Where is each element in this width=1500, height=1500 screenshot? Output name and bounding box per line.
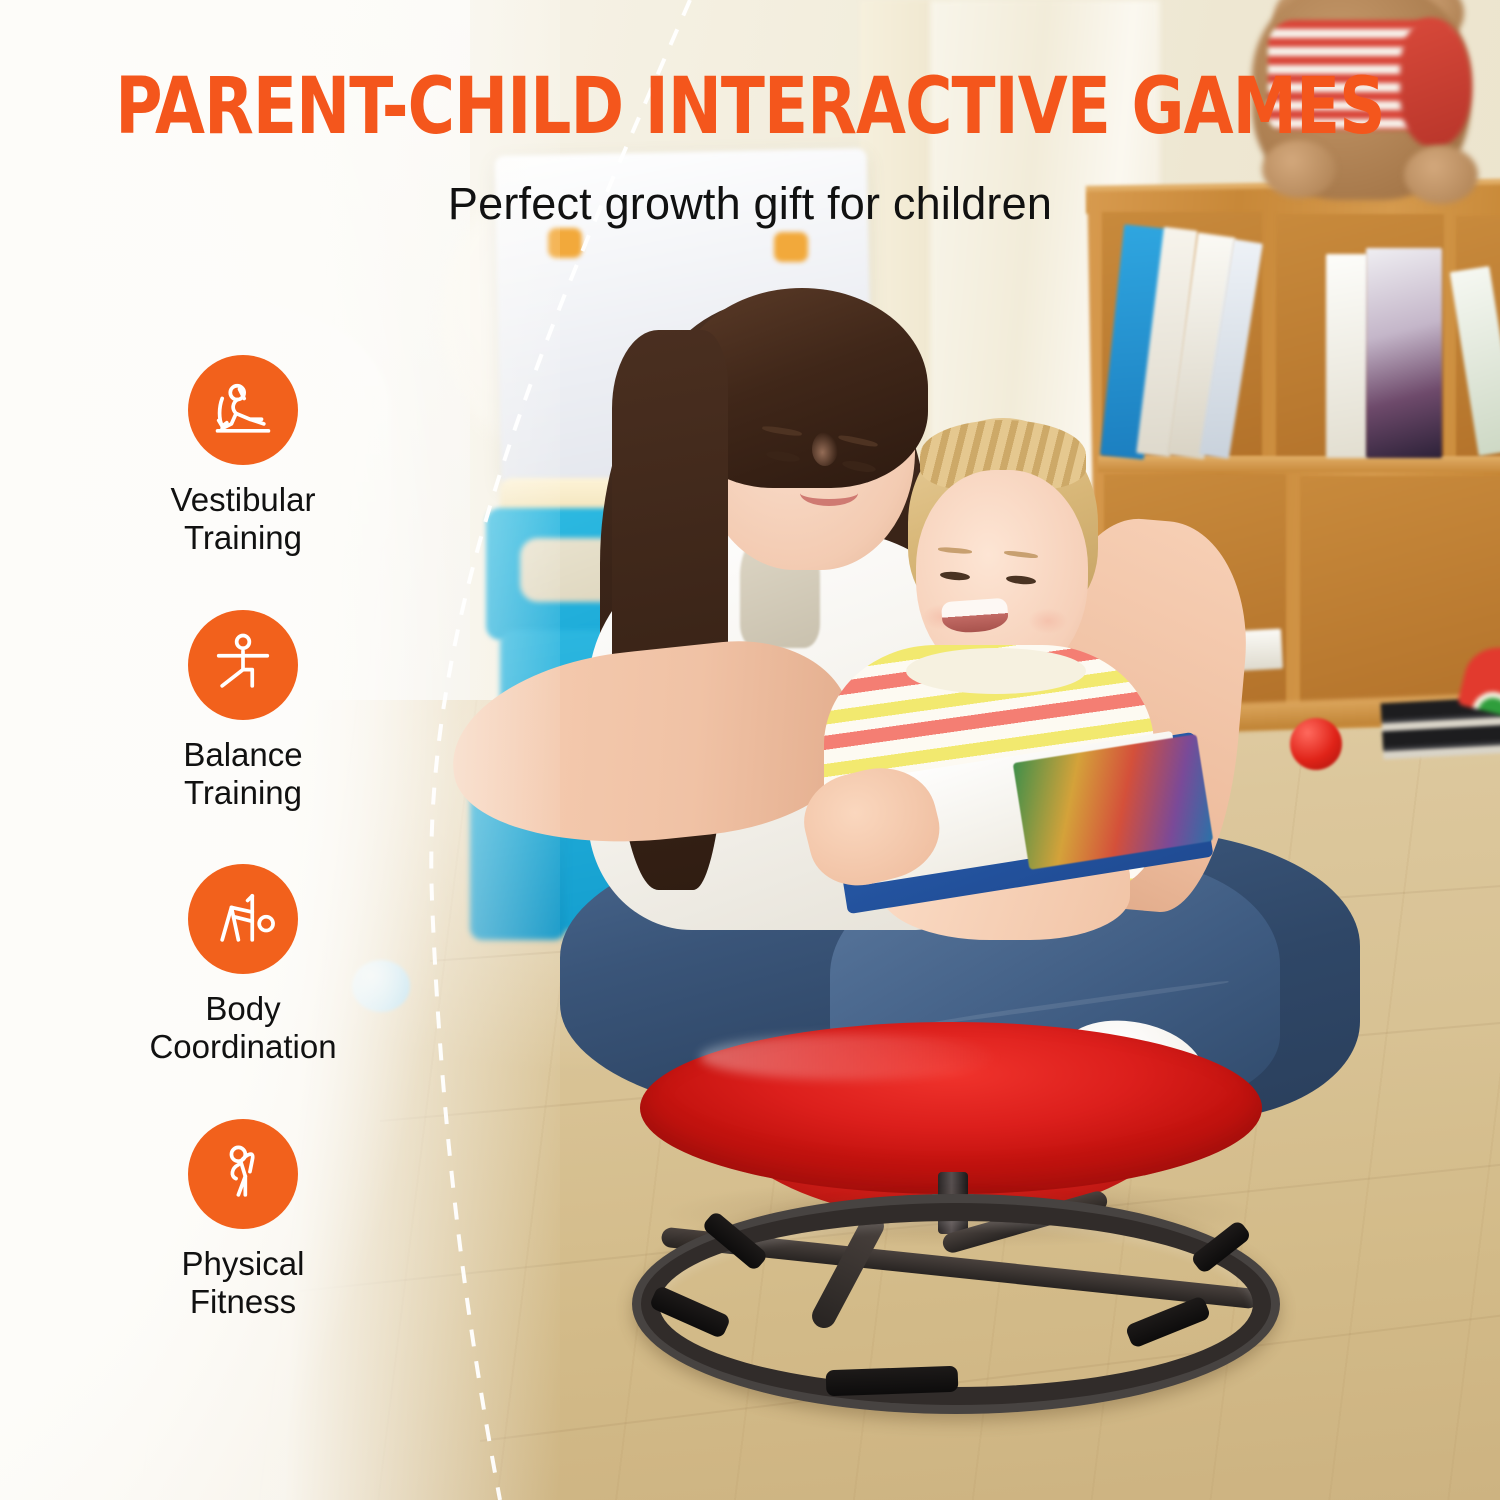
chair-seat-highlight [700, 1034, 1000, 1080]
easel-knob [774, 232, 808, 262]
feature-label: Vestibular Training [93, 481, 393, 558]
child-cheek [1028, 608, 1068, 634]
feature-item-physical-fitness: Physical Fitness [93, 1119, 393, 1322]
bending-figure-with-ball-icon [188, 864, 298, 974]
adult-smile [800, 480, 858, 506]
red-ball [1290, 718, 1342, 770]
sit-up-figure-icon [188, 355, 298, 465]
shelf-divider [1098, 456, 1500, 472]
page-title: PARENT-CHILD INTERACTIVE GAMES [60, 62, 1440, 152]
feature-item-vestibular-training: Vestibular Training [93, 355, 393, 558]
feature-label: Physical Fitness [93, 1245, 393, 1322]
shelf-book [1326, 254, 1368, 458]
page-subtitle: Perfect growth gift for children [0, 178, 1500, 230]
side-stretch-figure-icon [188, 1119, 298, 1229]
feature-label: Balance Training [93, 736, 393, 813]
adult-nose [812, 432, 838, 466]
feature-list: Vestibular Training Balance Training [93, 355, 393, 1373]
feature-item-balance-training: Balance Training [93, 610, 393, 813]
chair-foot-pad [826, 1366, 959, 1397]
product-marketing-banner: PARENT-CHILD INTERACTIVE GAMES Perfect g… [0, 0, 1500, 1500]
shelf-book [1366, 248, 1442, 458]
feature-label: Body Coordination [93, 990, 393, 1067]
feature-item-body-coordination: Body Coordination [93, 864, 393, 1067]
balance-pose-figure-icon [188, 610, 298, 720]
child-shirt-collar [906, 648, 1086, 694]
